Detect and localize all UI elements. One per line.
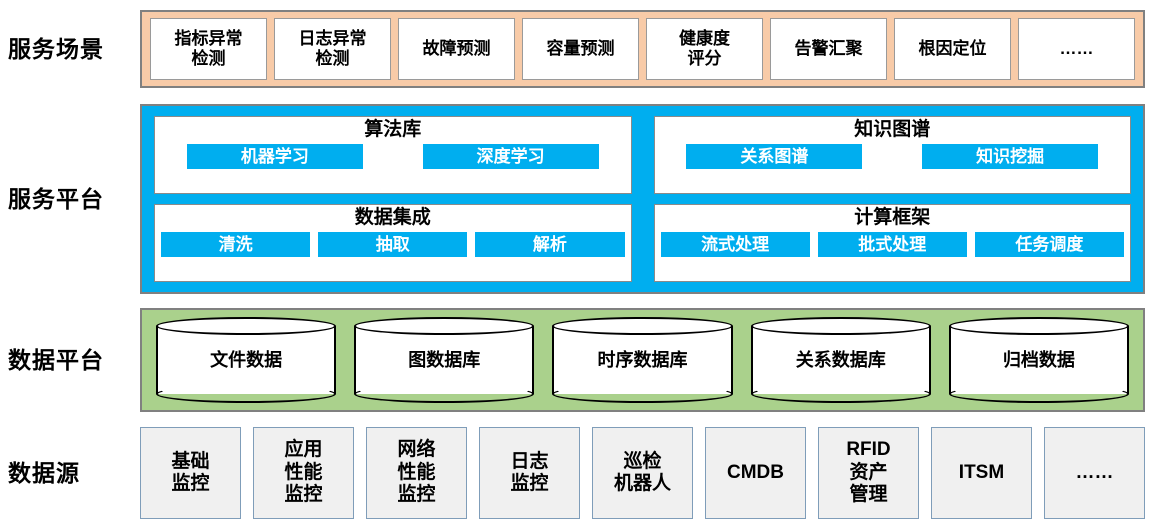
scenario-box[interactable]: 容量预测 (522, 18, 639, 80)
service-platform-row-label: 服务平台 (0, 104, 140, 294)
cylinder-top-icon (949, 317, 1129, 335)
cylinder-bottom-icon (354, 385, 534, 403)
platform-tag[interactable]: 任务调度 (975, 232, 1124, 258)
cylinder-top-icon (156, 317, 336, 335)
data-source-row-label: 数据源 (0, 427, 140, 519)
cylinder-bottom-icon (751, 385, 931, 403)
database-cylinder-label: 关系数据库 (796, 350, 886, 371)
scenario-box[interactable]: 根因定位 (894, 18, 1011, 80)
platform-tag[interactable]: 批式处理 (818, 232, 967, 258)
service-platform-band: 算法库 机器学习 深度学习 知识图谱 关系图谱 知识挖掘 数据集成 (140, 104, 1145, 294)
platform-card-title: 数据集成 (355, 208, 431, 229)
data-source-box-ellipsis[interactable]: …… (1044, 427, 1145, 519)
cylinder-bottom-icon (552, 385, 732, 403)
data-platform-row-label: 数据平台 (0, 308, 140, 412)
cylinder-bottom-icon (949, 385, 1129, 403)
database-cylinder[interactable]: 归档数据 (949, 317, 1129, 403)
data-platform-band: 文件数据 图数据库 时序数据库 关系数据库 (140, 308, 1145, 412)
platform-card-knowledge-graph[interactable]: 知识图谱 关系图谱 知识挖掘 (654, 116, 1132, 194)
data-source-box[interactable]: RFID 资产 管理 (818, 427, 919, 519)
data-source-box[interactable]: 网络 性能 监控 (366, 427, 467, 519)
data-source-box[interactable]: 应用 性能 监控 (253, 427, 354, 519)
platform-tag[interactable]: 机器学习 (187, 144, 363, 170)
platform-card-tag-row: 流式处理 批式处理 任务调度 (661, 232, 1125, 258)
data-source-box[interactable]: 基础 监控 (140, 427, 241, 519)
database-cylinder[interactable]: 文件数据 (156, 317, 336, 403)
platform-tag[interactable]: 清洗 (161, 232, 310, 258)
scenario-box[interactable]: 告警汇聚 (770, 18, 887, 80)
database-cylinder-label: 文件数据 (210, 350, 282, 371)
platform-card-data-integration[interactable]: 数据集成 清洗 抽取 解析 (154, 204, 632, 282)
platform-tag[interactable]: 知识挖掘 (922, 144, 1098, 170)
scenario-box[interactable]: 故障预测 (398, 18, 515, 80)
data-source-box[interactable]: CMDB (705, 427, 806, 519)
data-source-box[interactable]: 巡检 机器人 (592, 427, 693, 519)
scenario-box[interactable]: 健康度 评分 (646, 18, 763, 80)
service-scenario-row-label: 服务场景 (0, 10, 140, 88)
service-platform-row: 服务平台 算法库 机器学习 深度学习 知识图谱 关系图谱 知识挖掘 (0, 104, 1159, 294)
platform-card-title: 知识图谱 (854, 120, 930, 141)
platform-tag[interactable]: 流式处理 (661, 232, 810, 258)
database-cylinder[interactable]: 时序数据库 (552, 317, 732, 403)
platform-tag[interactable]: 解析 (475, 232, 624, 258)
database-cylinder-label: 时序数据库 (598, 350, 688, 371)
platform-card-title: 计算框架 (854, 208, 930, 229)
platform-card-algorithm-library[interactable]: 算法库 机器学习 深度学习 (154, 116, 632, 194)
cylinder-top-icon (552, 317, 732, 335)
platform-card-tag-row: 关系图谱 知识挖掘 (661, 144, 1125, 170)
cylinder-top-icon (354, 317, 534, 335)
platform-tag[interactable]: 抽取 (318, 232, 467, 258)
platform-card-tag-row: 机器学习 深度学习 (161, 144, 625, 170)
service-scenario-row: 服务场景 指标异常 检测 日志异常 检测 故障预测 容量预测 健康度 评分 告警… (0, 10, 1159, 88)
platform-card-row-bottom: 数据集成 清洗 抽取 解析 计算框架 流式处理 批式处理 任务调度 (154, 204, 1131, 282)
data-source-box[interactable]: 日志 监控 (479, 427, 580, 519)
data-source-row: 数据源 基础 监控 应用 性能 监控 网络 性能 监控 日志 监控 巡检 机器人… (0, 427, 1159, 519)
platform-tag[interactable]: 深度学习 (423, 144, 599, 170)
database-cylinder[interactable]: 图数据库 (354, 317, 534, 403)
database-cylinder-label: 归档数据 (1003, 350, 1075, 371)
platform-tag[interactable]: 关系图谱 (686, 144, 862, 170)
data-platform-row: 数据平台 文件数据 图数据库 时序数据库 (0, 308, 1159, 412)
cylinder-top-icon (751, 317, 931, 335)
scenario-box[interactable]: 指标异常 检测 (150, 18, 267, 80)
aiops-architecture-diagram: 服务场景 指标异常 检测 日志异常 检测 故障预测 容量预测 健康度 评分 告警… (0, 0, 1159, 530)
platform-card-title: 算法库 (364, 120, 421, 141)
database-cylinder-label: 图数据库 (408, 350, 480, 371)
data-source-list: 基础 监控 应用 性能 监控 网络 性能 监控 日志 监控 巡检 机器人 CMD… (140, 427, 1145, 519)
platform-card-tag-row: 清洗 抽取 解析 (161, 232, 625, 258)
platform-card-compute-framework[interactable]: 计算框架 流式处理 批式处理 任务调度 (654, 204, 1132, 282)
data-source-box[interactable]: ITSM (931, 427, 1032, 519)
service-scenario-band: 指标异常 检测 日志异常 检测 故障预测 容量预测 健康度 评分 告警汇聚 根因… (140, 10, 1145, 88)
database-cylinder[interactable]: 关系数据库 (751, 317, 931, 403)
cylinder-bottom-icon (156, 385, 336, 403)
platform-card-row-top: 算法库 机器学习 深度学习 知识图谱 关系图谱 知识挖掘 (154, 116, 1131, 194)
scenario-box-ellipsis[interactable]: …… (1018, 18, 1135, 80)
scenario-box[interactable]: 日志异常 检测 (274, 18, 391, 80)
